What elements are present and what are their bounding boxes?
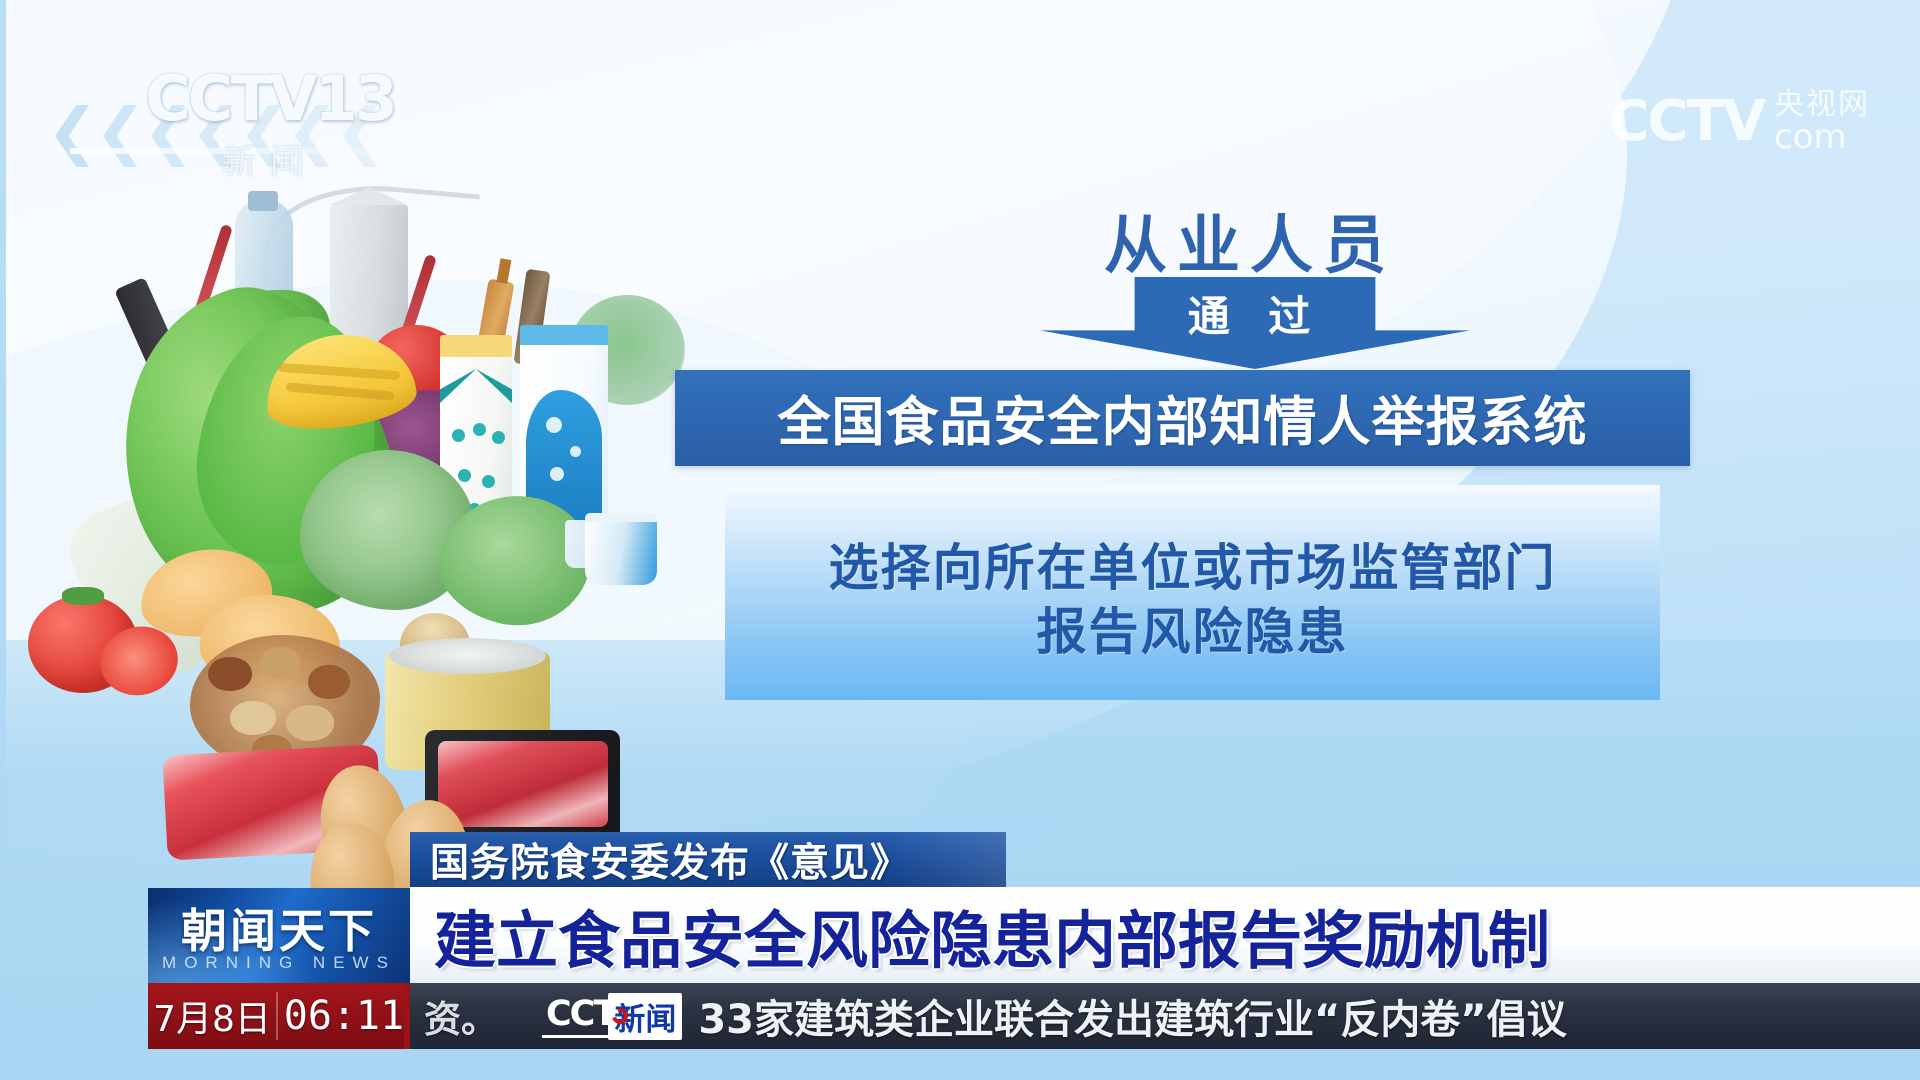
bottle-cap-icon <box>248 191 278 211</box>
chevron-icon <box>247 105 281 167</box>
headline-bar: 建立食品安全风险隐患内部报告奖励机制 <box>410 887 1920 983</box>
chevron-icon <box>295 105 329 167</box>
milk-carton-blue-icon <box>520 325 608 525</box>
cctv-news-logo: CCTV 新闻 <box>542 993 682 1040</box>
through-arrow-banner: 通 过 <box>1040 277 1470 369</box>
report-system-name: 全国食品安全内部知情人举报系统 <box>778 380 1588 456</box>
chevron-icon <box>199 105 233 167</box>
left-edge-strip <box>0 0 6 1080</box>
kicker-text: 国务院食安委发布《意见》 <box>430 832 910 888</box>
program-logo: 朝闻天下 MORNING NEWS <box>148 888 410 983</box>
broadcast-date: 7月8日 <box>148 990 276 1042</box>
through-label: 通 过 <box>1040 283 1470 344</box>
chevron-icon <box>103 105 137 167</box>
broadcast-time: 06:11 <box>278 993 410 1039</box>
report-detail-line-2: 报告风险隐患 <box>1037 600 1349 664</box>
gray-carton-icon <box>330 205 408 345</box>
yogurt-cup-icon <box>585 513 657 585</box>
chevron-icon <box>55 105 89 167</box>
ticker-prefix: 资。 <box>424 989 498 1043</box>
lower-third: 国务院食安委发布《意见》 朝闻天下 MORNING NEWS 7月8日 06:1… <box>0 880 1920 1080</box>
chevron-icon <box>343 105 377 167</box>
chevron-underline <box>70 148 400 154</box>
program-name-cn: 朝闻天下 <box>148 895 410 961</box>
report-system-bar: 全国食品安全内部知情人举报系统 <box>675 370 1690 466</box>
news-ticker: 资。 CCTV 新闻 33家建筑类企业联合发出建筑行业“反内卷”倡议 <box>410 983 1920 1049</box>
chevron-icon <box>151 105 185 167</box>
tomato-stem-icon <box>62 587 104 605</box>
datetime-bar: 7月8日 06:11 <box>148 983 410 1049</box>
broadcast-stage: CCTV13 新闻 CCTV 央视网 com <box>0 0 1920 1080</box>
program-name-en: MORNING NEWS <box>148 953 410 973</box>
headline-text: 建立食品安全风险隐患内部报告奖励机制 <box>434 890 1550 980</box>
report-detail-panel: 选择向所在单位或市场监管部门 报告风险隐患 <box>725 485 1660 700</box>
report-detail-line-1: 选择向所在单位或市场监管部门 <box>829 536 1557 600</box>
food-illustration <box>10 195 710 855</box>
chevron-decoration <box>55 105 377 167</box>
ticker-text: 33家建筑类企业联合发出建筑行业“反内卷”倡议 <box>698 987 1566 1045</box>
sliced-meat-icon <box>438 741 608 827</box>
employees-title: 从业人员 <box>1040 195 1460 286</box>
kicker-bar: 国务院食安委发布《意见》 <box>410 832 1006 887</box>
infographic-group: 从业人员 通 过 全国食品安全内部知情人举报系统 选择向所在单位或市场监管部门 … <box>680 195 1680 286</box>
